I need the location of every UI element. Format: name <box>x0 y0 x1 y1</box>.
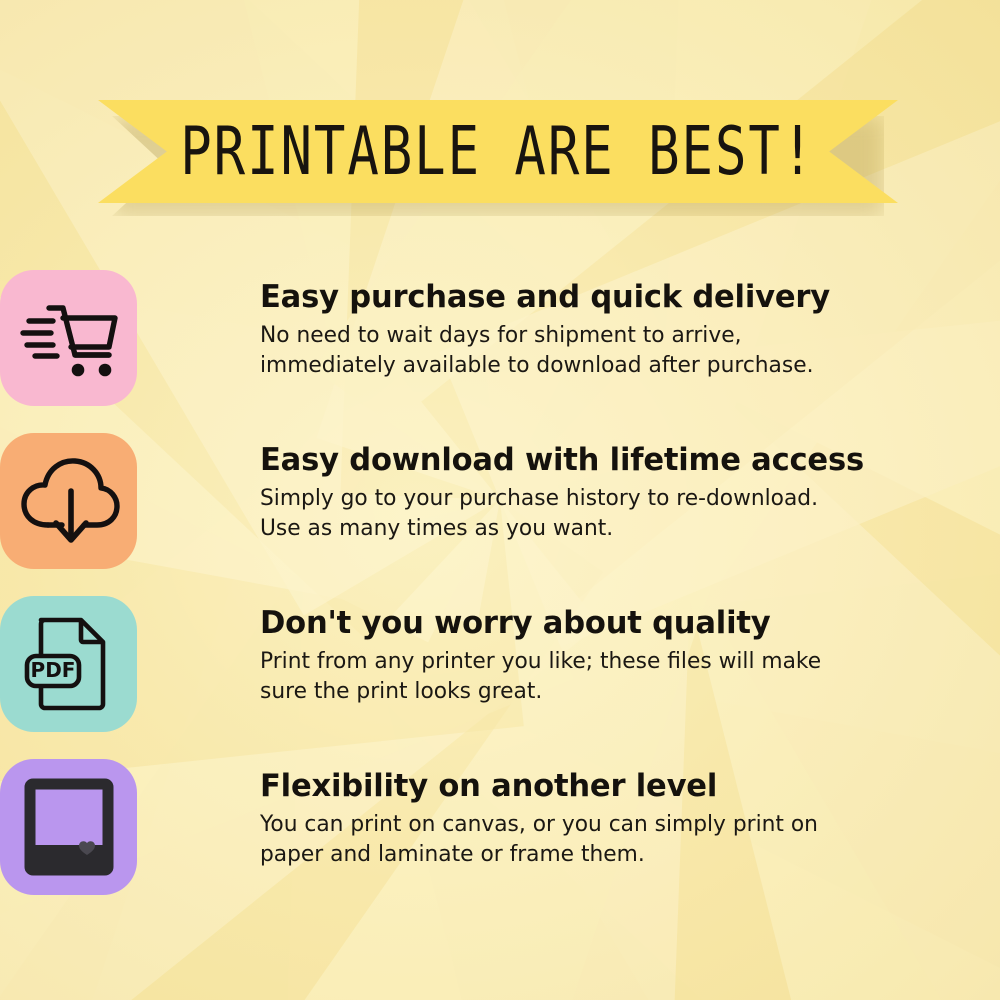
feature-description: Simply go to your purchase history to re… <box>260 484 904 543</box>
feature-description-line2: immediately available to download after … <box>260 351 904 381</box>
shopping-cart-icon <box>17 292 121 384</box>
feature-description-line2: Use as many times as you want. <box>260 514 904 544</box>
cloud-download-icon <box>18 453 120 549</box>
feature-description-line1: Simply go to your purchase history to re… <box>260 484 904 514</box>
feature-description: No need to wait days for shipment to arr… <box>260 321 904 380</box>
feature-icon-tile-cart <box>0 270 137 406</box>
feature-title: Flexibility on another level <box>260 769 900 804</box>
list-item: Easy download with lifetime access Simpl… <box>0 433 1000 596</box>
page-title: PRINTABLE ARE BEST! <box>181 118 816 184</box>
feature-text-block: Don't you worry about quality Print from… <box>260 606 920 707</box>
feature-text-block: Easy purchase and quick delivery No need… <box>260 280 920 381</box>
pdf-file-icon: PDF <box>23 612 115 716</box>
feature-icon-tile-cloud <box>0 433 137 569</box>
feature-text-block: Flexibility on another level You can pri… <box>260 769 920 870</box>
title-banner: PRINTABLE ARE BEST! <box>98 100 898 203</box>
list-item: Flexibility on another level You can pri… <box>0 759 1000 922</box>
cart-wheel-right <box>98 364 111 377</box>
feature-description-line2: paper and laminate or frame them. <box>260 840 904 870</box>
feature-description-line1: Print from any printer you like; these f… <box>260 647 904 677</box>
photo-frame-icon <box>25 779 113 875</box>
feature-icon-tile-frame <box>0 759 137 895</box>
cart-wheel-left <box>71 364 84 377</box>
feature-title: Easy purchase and quick delivery <box>260 280 900 315</box>
feature-description-line1: You can print on canvas, or you can simp… <box>260 810 904 840</box>
feature-list: Easy purchase and quick delivery No need… <box>0 270 1000 922</box>
feature-description: You can print on canvas, or you can simp… <box>260 810 904 869</box>
feature-title: Don't you worry about quality <box>260 606 900 641</box>
list-item: Easy purchase and quick delivery No need… <box>0 270 1000 433</box>
feature-description-line1: No need to wait days for shipment to arr… <box>260 321 904 351</box>
feature-icon-tile-pdf: PDF <box>0 596 137 732</box>
pdf-badge-label: PDF <box>30 658 75 682</box>
banner-ribbon: PRINTABLE ARE BEST! <box>98 100 898 203</box>
feature-title: Easy download with lifetime access <box>260 443 900 478</box>
poster-canvas: PRINTABLE ARE BEST! <box>0 0 1000 1000</box>
feature-description: Print from any printer you like; these f… <box>260 647 904 706</box>
list-item: PDF Don't you worry about quality Print … <box>0 596 1000 759</box>
feature-text-block: Easy download with lifetime access Simpl… <box>260 443 920 544</box>
feature-description-line2: sure the print looks great. <box>260 677 904 707</box>
